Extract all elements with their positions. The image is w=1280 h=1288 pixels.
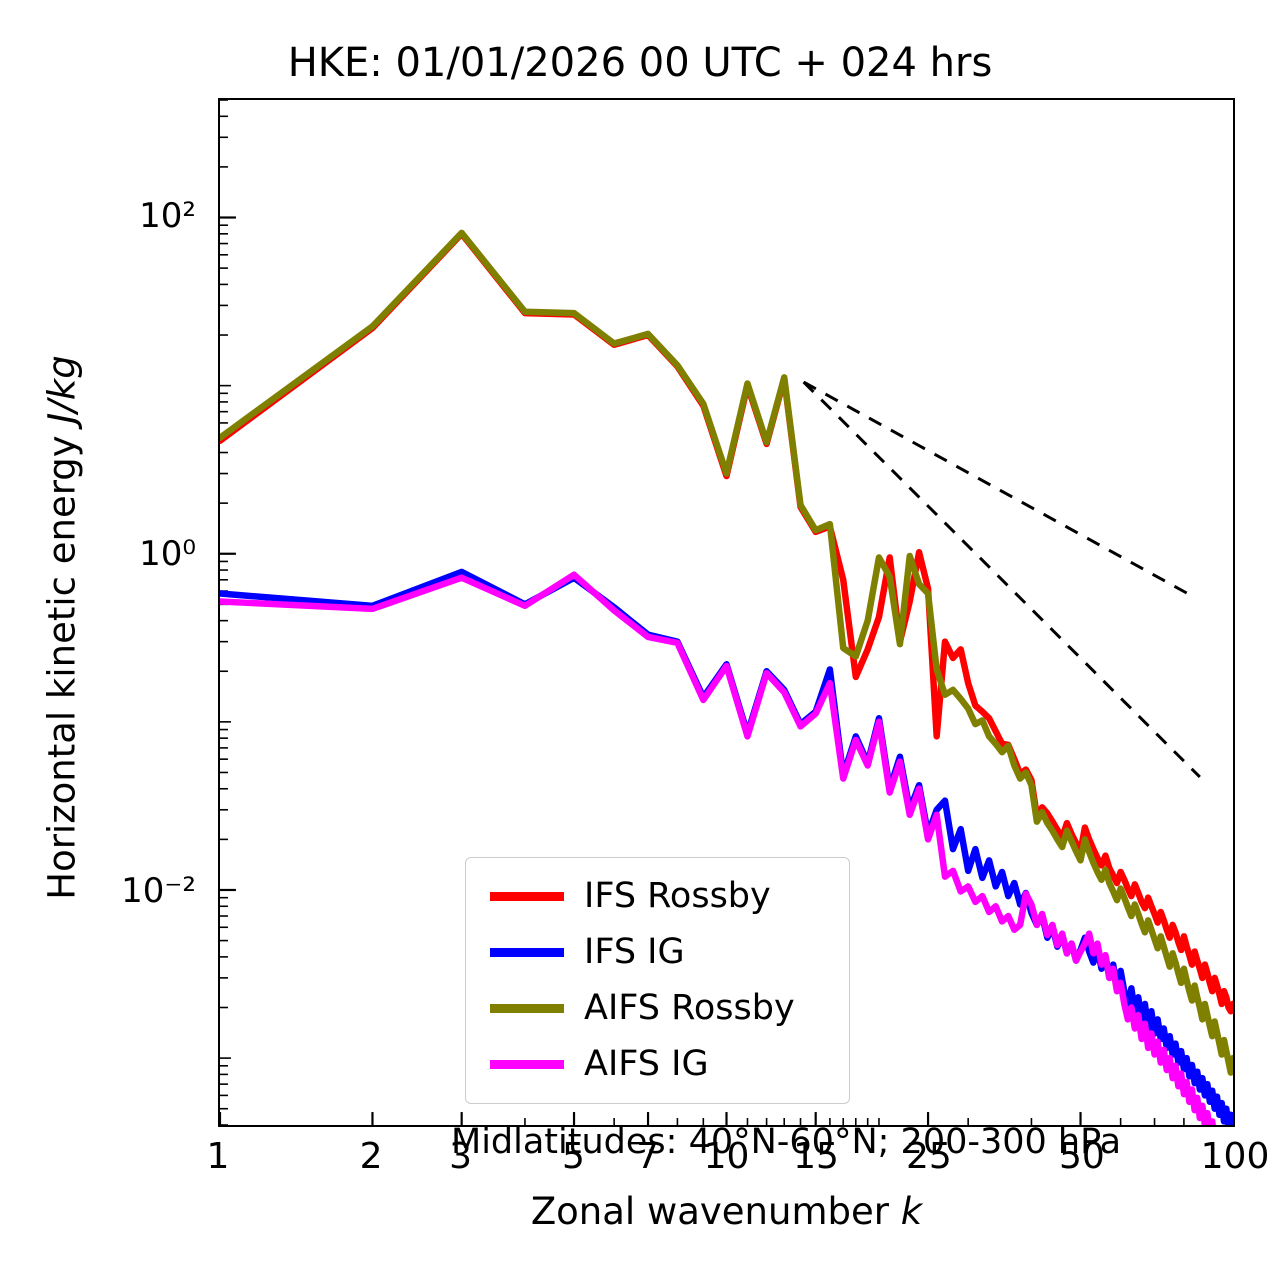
x-tick-label: 10	[704, 1136, 750, 1177]
x-tick-label: 3	[449, 1136, 472, 1177]
legend-label-aifs-ig: AIFS IG	[584, 1044, 709, 1084]
legend-label-ifs-rossby: IFS Rossby	[584, 876, 771, 916]
x-axis-title-text: Zonal wavenumber	[531, 1190, 901, 1233]
x-axis-title-symbol: k	[901, 1190, 922, 1233]
reference-slope-lines	[804, 382, 1200, 777]
y-tick-label: 10⁻²	[121, 871, 196, 911]
legend-swatch-aifs-ig	[490, 1060, 564, 1069]
x-tick-label: 1	[207, 1136, 230, 1177]
legend-item[interactable]: IFS IG	[480, 924, 835, 980]
legend-item[interactable]: AIFS IG	[480, 1036, 835, 1092]
y-tick-label: 10²	[139, 196, 196, 236]
legend[interactable]: IFS Rossby IFS IG AIFS Rossby AIFS IG	[465, 857, 850, 1104]
x-tick-label: 25	[906, 1136, 952, 1177]
x-tick-label: 15	[793, 1136, 839, 1177]
x-tick-label: 5	[562, 1136, 585, 1177]
y-tick-label: 10⁰	[139, 534, 196, 574]
legend-item[interactable]: AIFS Rossby	[480, 980, 835, 1036]
region-annotation: Midlatitudes: 40°N-60°N; 200-300 hPa	[451, 1122, 1121, 1162]
plot-area: IFS Rossby IFS IG AIFS Rossby AIFS IG Mi…	[218, 98, 1235, 1127]
x-tick-label: 100	[1201, 1136, 1270, 1177]
x-tick-label: 50	[1059, 1136, 1105, 1177]
y-axis-tick-labels: 10⁻²10⁰10²	[0, 0, 196, 1288]
legend-swatch-aifs-rossby	[490, 1004, 564, 1013]
y-axis-title-unit: J/kg	[41, 355, 84, 423]
chart-page: HKE: 01/01/2026 00 UTC + 024 hrs 10⁻²10⁰…	[0, 0, 1280, 1288]
y-axis-title: Horizontal kinetic energy J/kg	[41, 248, 84, 1008]
x-tick-label: 2	[360, 1136, 383, 1177]
legend-swatch-ifs-ig	[490, 948, 564, 957]
legend-swatch-ifs-rossby	[490, 892, 564, 901]
legend-label-aifs-rossby: AIFS Rossby	[584, 988, 795, 1028]
x-tick-label: 7	[636, 1136, 659, 1177]
x-axis-title: Zonal wavenumber k	[218, 1190, 1235, 1233]
legend-label-ifs-ig: IFS IG	[584, 932, 685, 972]
y-axis-title-text: Horizontal kinetic energy	[41, 424, 84, 900]
legend-item[interactable]: IFS Rossby	[480, 868, 835, 924]
